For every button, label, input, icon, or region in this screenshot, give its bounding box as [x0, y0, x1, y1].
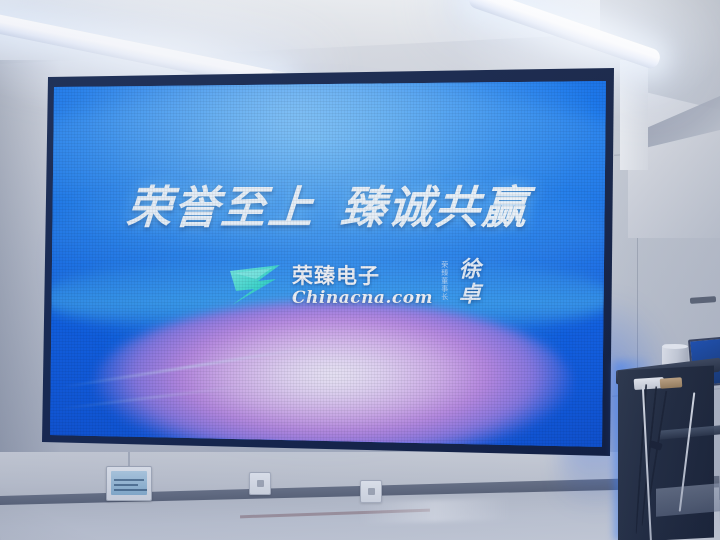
headline-left: 荣誉至上 [125, 181, 317, 234]
signature-name: 徐卓 [452, 257, 484, 307]
signature-title: 荣臻董事长 [440, 261, 448, 307]
rongzhen-chevron-logo-icon [228, 263, 282, 309]
company-logo: 荣臻电子 Chinacna.com [228, 263, 433, 309]
signature-block: 荣臻董事长 徐卓 [440, 257, 484, 307]
logo-text-block: 荣臻电子 Chinacna.com [292, 266, 433, 307]
logo-company-name: 荣臻电子 [292, 266, 433, 287]
connector-block [660, 377, 683, 389]
photo-scene: 荣誉至上臻诚共赢 荣臻电 [0, 0, 720, 540]
control-panel-display [111, 471, 147, 495]
soffit-front-panel [620, 60, 648, 170]
screen-panel: 荣誉至上臻诚共赢 荣臻电 [50, 81, 606, 447]
headline-right: 臻诚共赢 [339, 181, 531, 234]
wall-socket-1[interactable] [249, 472, 271, 495]
floor-reflection [360, 498, 511, 524]
slide-content: 荣誉至上臻诚共赢 荣臻电 [50, 81, 606, 447]
led-display-screen[interactable]: 荣誉至上臻诚共赢 荣臻电 [42, 68, 614, 456]
wall-socket-2[interactable] [360, 480, 382, 503]
wall-control-panel[interactable] [106, 466, 152, 501]
slide-headline: 荣誉至上臻诚共赢 [50, 171, 606, 236]
logo-website: Chinacna.com [292, 290, 433, 307]
av-cart-lower-shelf [656, 483, 720, 517]
